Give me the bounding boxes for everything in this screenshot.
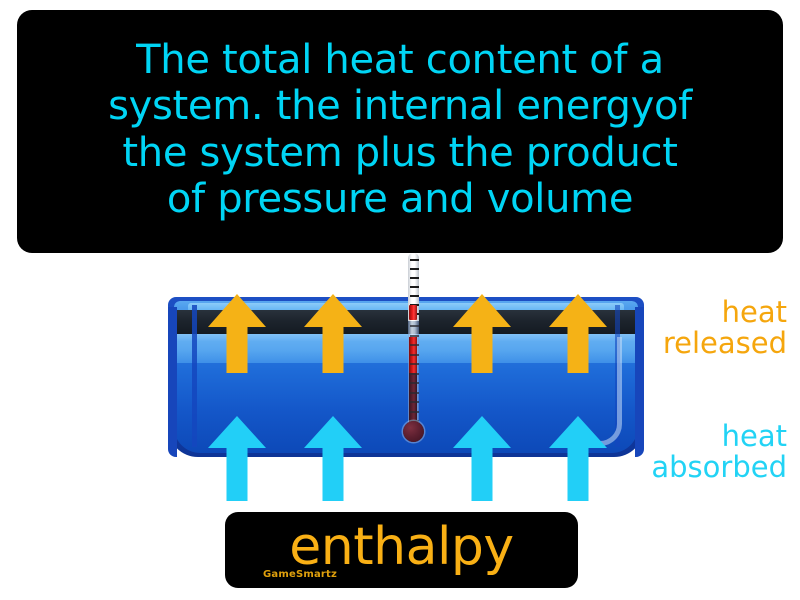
heat-absorbed-arrow	[304, 416, 362, 501]
heat-absorbed-arrow-group	[0, 253, 800, 508]
watermark-text: GameSmartz	[263, 569, 337, 580]
term-card: enthalpy GameSmartz	[225, 512, 578, 588]
heat-absorbed-arrow	[453, 416, 511, 501]
enthalpy-diagram: heat released heat absorbed	[0, 253, 800, 508]
definition-text: The total heat content of a system. the …	[108, 37, 692, 223]
heat-absorbed-arrow	[208, 416, 266, 501]
definition-card: The total heat content of a system. the …	[17, 10, 783, 253]
heat-absorbed-arrow	[549, 416, 607, 501]
